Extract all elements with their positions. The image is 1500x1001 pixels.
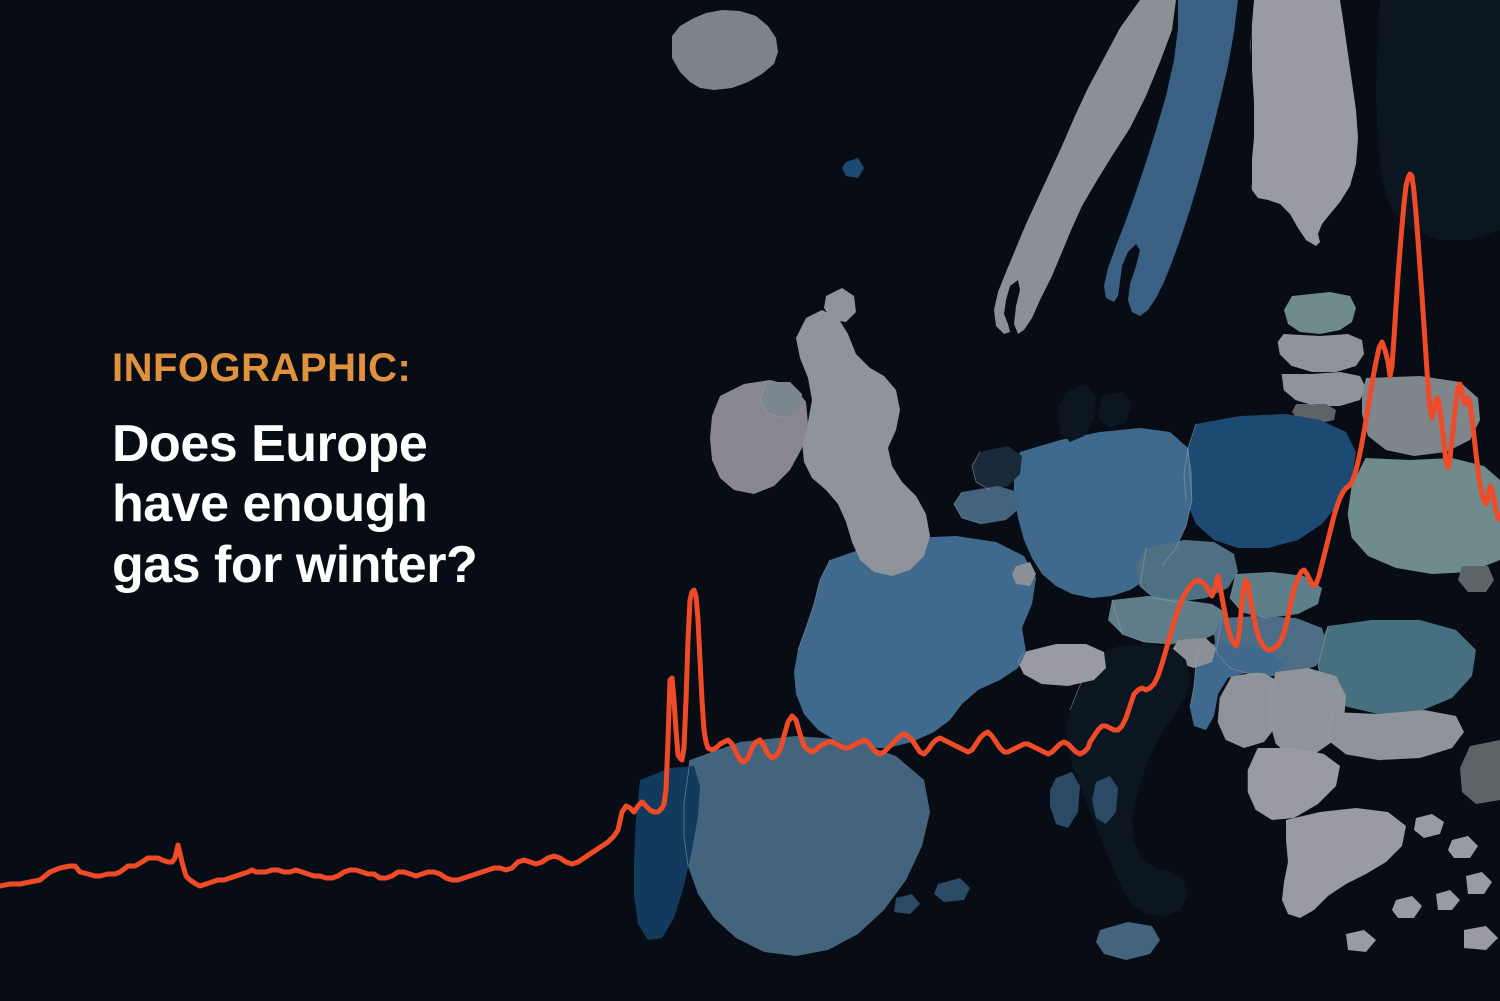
kicker-label: INFOGRAPHIC: (112, 348, 632, 388)
page-title-line-1: Does Europe (112, 414, 632, 474)
infographic-canvas: INFOGRAPHIC: Does Europe have enough gas… (0, 0, 1500, 1001)
page-title-line-2: have enough (112, 474, 632, 534)
headline-block: INFOGRAPHIC: Does Europe have enough gas… (112, 348, 632, 595)
page-title: Does Europe have enough gas for winter? (112, 414, 632, 595)
page-title-line-3: gas for winter? (112, 535, 632, 595)
